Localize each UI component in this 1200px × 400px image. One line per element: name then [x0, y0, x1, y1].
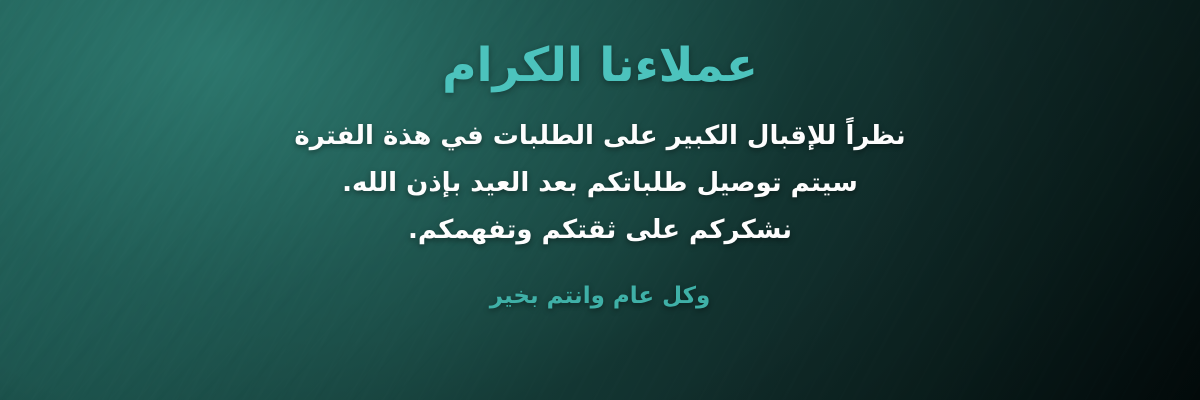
banner-body-line-1: نظراً للإقبال الكبير على الطلبات في هذة …	[294, 123, 905, 170]
banner-content: عملاءنا الكرام نظراً للإقبال الكبير على …	[0, 0, 1200, 400]
banner-body: نظراً للإقبال الكبير على الطلبات في هذة …	[294, 123, 905, 243]
banner-body-line-2: سيتم توصيل طلباتكم بعد العيد بإذن الله.	[294, 170, 905, 217]
announcement-banner: عملاءنا الكرام نظراً للإقبال الكبير على …	[0, 0, 1200, 400]
banner-headline: عملاءنا الكرام	[442, 42, 758, 89]
banner-body-line-3: نشكركم على ثقتكم وتفهمكم.	[294, 217, 905, 243]
banner-greeting-footer: وكل عام وانتم بخير	[490, 285, 711, 308]
